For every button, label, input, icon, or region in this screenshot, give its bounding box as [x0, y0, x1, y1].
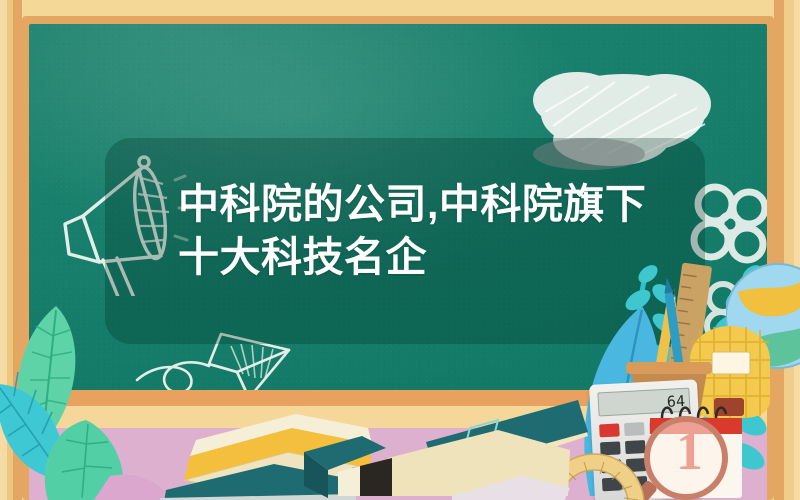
book-small-left-icon	[300, 430, 390, 500]
poster-canvas: 中科院的公司,中科院旗下十大科技名企	[0, 0, 800, 500]
notebook-pink-icon	[452, 466, 572, 500]
calculator-key-ac[interactable]	[599, 423, 620, 437]
